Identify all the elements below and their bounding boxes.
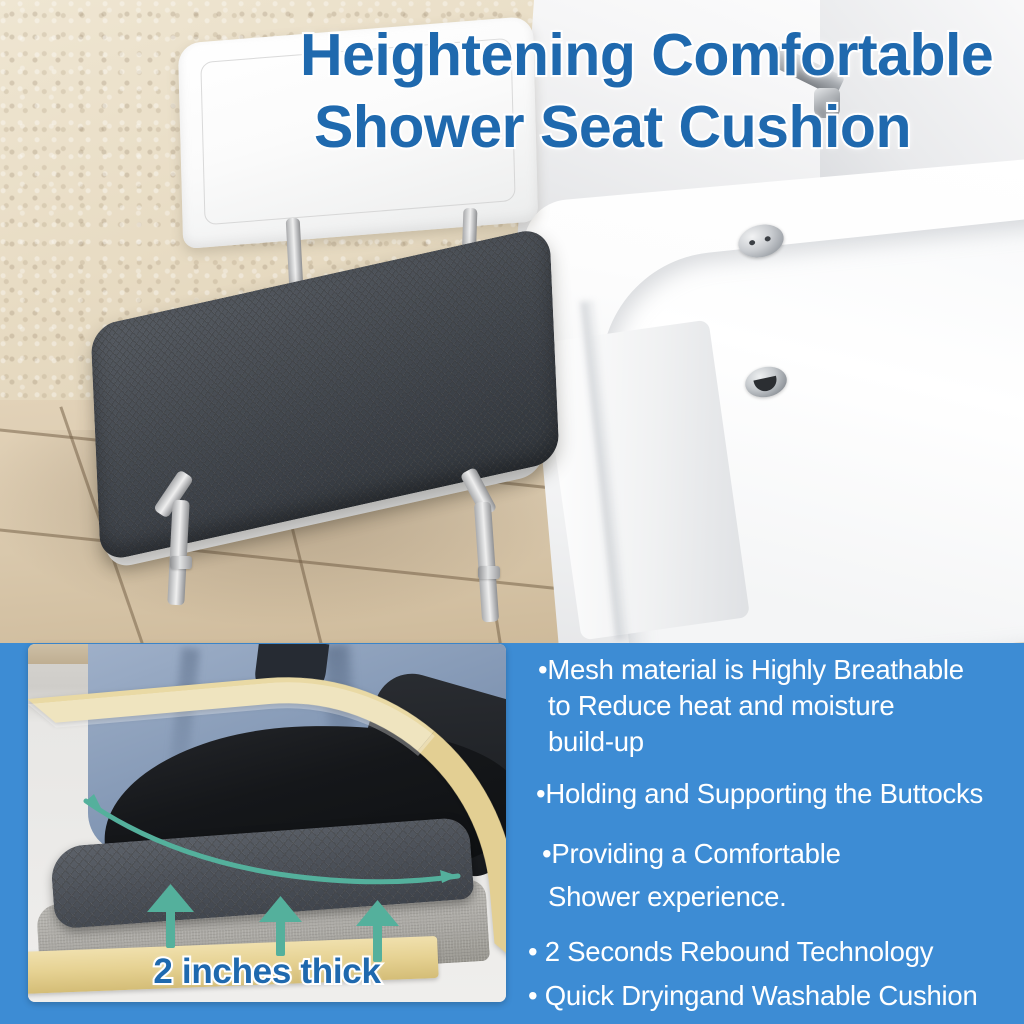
chair-leg-collar-left bbox=[170, 556, 192, 569]
bullet-line-4: •Holding and Supporting the Buttocks bbox=[536, 776, 983, 812]
shower-chair bbox=[0, 0, 600, 643]
chair-backrest bbox=[178, 16, 538, 249]
bullet-line-7: • 2 Seconds Rebound Technology bbox=[528, 934, 933, 970]
bullet-line-5: •Providing a Comfortable bbox=[542, 836, 841, 872]
teal-contour-arrowhead bbox=[440, 870, 458, 883]
teal-annotation-overlay bbox=[28, 644, 506, 1002]
feature-bullet-list: •Mesh material is Highly Breathable to R… bbox=[524, 646, 1024, 1024]
bullet-line-6: Shower experience. bbox=[548, 879, 787, 915]
chrome-faucet-icon bbox=[770, 60, 850, 130]
bullet-line-2: to Reduce heat and moisture bbox=[548, 688, 894, 724]
bullet-line-3: build-up bbox=[548, 724, 644, 760]
bullet-line-1: •Mesh material is Highly Breathable bbox=[538, 652, 964, 688]
chair-leg-front-right bbox=[474, 502, 499, 623]
bullet-line-8: • Quick Dryingand Washable Cushion bbox=[528, 978, 978, 1014]
usage-demo-photo: 2 inches thick bbox=[28, 644, 506, 1002]
teal-contour-line bbox=[86, 801, 458, 882]
teal-up-arrow-1 bbox=[147, 884, 194, 948]
hero-product-photo bbox=[0, 0, 1024, 643]
teal-up-arrow-2 bbox=[259, 896, 302, 956]
thickness-caption: 2 inches thick bbox=[28, 952, 506, 992]
product-image-canvas: Heightening Comfortable Shower Seat Cush… bbox=[0, 0, 1024, 1024]
chair-leg-collar-right bbox=[478, 566, 500, 579]
